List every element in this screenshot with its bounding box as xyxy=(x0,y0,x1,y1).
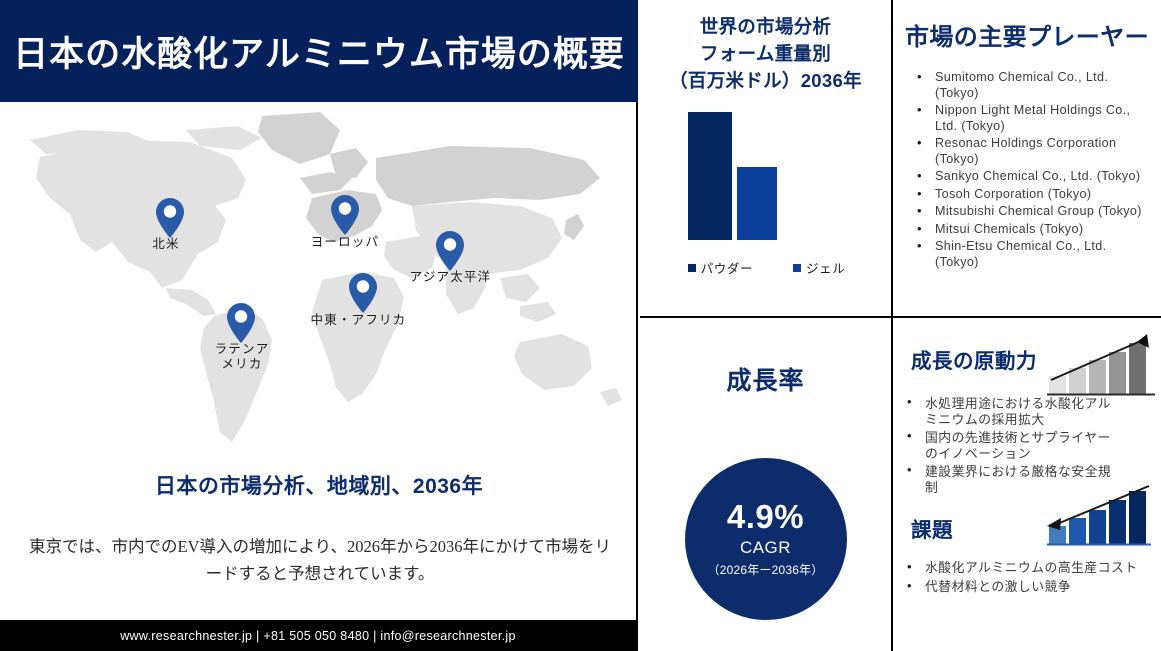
map-pin-north-america[interactable] xyxy=(155,197,185,239)
location-pin-icon xyxy=(348,272,378,314)
chart-title-line-3: （百万米ドル）2036年 xyxy=(646,67,885,94)
key-players-panel: 市場の主要プレーヤー Sumitomo Chemical Co., Ltd. (… xyxy=(893,0,1161,318)
infographic-root: 日本の水酸化アルミニウム市場の概要 xyxy=(0,0,1161,651)
world-map-graphic xyxy=(0,102,638,462)
left-panel: 日本の水酸化アルミニウム市場の概要 xyxy=(0,0,638,651)
chart-title-line-1: 世界の市場分析 xyxy=(646,13,885,40)
map-label-europe: ヨーロッパ xyxy=(290,235,400,250)
list-item: 代替材料との激しい競争 xyxy=(899,577,1157,596)
growth-drivers-panel: 成長の原動力 水処理用途における水酸化アルミニウムの採用拡大 国内の先進技術とサ… xyxy=(893,318,1161,651)
map-pin-asia-pacific[interactable] xyxy=(435,230,465,272)
growth-drivers-list: 水処理用途における水酸化アルミニウムの採用拡大 国内の先進技術とサプライヤーのイ… xyxy=(899,396,1119,498)
descending-arrow-bar-chart-icon xyxy=(1043,484,1155,548)
cagr-period: （2026年ー2036年） xyxy=(708,560,824,580)
list-item: Tosoh Corporation (Tokyo) xyxy=(913,187,1147,203)
map-label-asia-pacific: アジア太平洋 xyxy=(388,270,513,285)
legend-swatch-gel xyxy=(793,264,801,272)
list-item: 水処理用途における水酸化アルミニウムの採用拡大 xyxy=(899,396,1119,428)
page-title: 日本の水酸化アルミニウム市場の概要 xyxy=(13,26,625,77)
key-players-title: 市場の主要プレーヤー xyxy=(893,17,1161,52)
legend-label-gel: ジェル xyxy=(806,258,845,277)
cagr-badge: 4.9% CAGR （2026年ー2036年） xyxy=(685,458,847,620)
bar-chart-legend: パウダー ジェル xyxy=(640,258,893,277)
location-pin-icon xyxy=(226,302,256,344)
location-pin-icon xyxy=(330,194,360,236)
bar-chart-plot xyxy=(640,110,893,240)
footer-bar: www.researchnester.jp | +81 505 050 8480… xyxy=(0,620,636,651)
list-item: Resonac Holdings Corporation (Tokyo) xyxy=(913,136,1147,167)
chart-title-line-2: フォーム重量別 xyxy=(646,40,885,67)
legend-swatch-powder xyxy=(688,264,696,272)
list-item: Sumitomo Chemical Co., Ltd. (Tokyo) xyxy=(913,70,1147,101)
key-players-list: Sumitomo Chemical Co., Ltd. (Tokyo) Nipp… xyxy=(913,70,1147,270)
cagr-label: CAGR xyxy=(740,536,791,560)
ascending-bar-chart-icon xyxy=(1045,332,1157,398)
growth-rate-panel: 成長率 4.9% CAGR （2026年ー2036年） xyxy=(640,318,893,651)
market-analysis-chart-panel: 世界の市場分析 フォーム重量別 （百万米ドル）2036年 パウダー ジェル xyxy=(640,0,893,318)
bar-gel[interactable] xyxy=(737,167,777,240)
list-item: Nippon Light Metal Holdings Co., Ltd. (T… xyxy=(913,103,1147,134)
growth-drivers-title: 成長の原動力 xyxy=(911,344,1037,374)
list-item: 水酸化アルミニウムの高生産コスト xyxy=(899,558,1157,577)
map-pin-europe[interactable] xyxy=(330,194,360,236)
chart-title: 世界の市場分析 フォーム重量別 （百万米ドル）2036年 xyxy=(646,13,885,94)
bar-powder[interactable] xyxy=(688,112,732,240)
map-label-middle-east-africa: 中東・アフリカ xyxy=(291,313,426,328)
challenges-title: 課題 xyxy=(911,513,953,543)
growth-rate-title: 成長率 xyxy=(640,361,891,397)
location-pin-icon xyxy=(155,197,185,239)
map-pin-middle-east-africa[interactable] xyxy=(348,272,378,314)
region-headline: 日本の市場分析、地域別、2036年 xyxy=(0,470,638,500)
list-item: 国内の先進技術とサプライヤーのイノベーション xyxy=(899,430,1119,462)
challenges-list: 水酸化アルミニウムの高生産コスト 代替材料との激しい競争 xyxy=(899,558,1157,596)
legend-item-gel[interactable]: ジェル xyxy=(793,258,845,277)
world-map-area: 北米 ヨーロッパ アジア太平洋 ラテンア メリカ 中東・アフリカ xyxy=(0,102,638,462)
list-item: Mitsubishi Chemical Group (Tokyo) xyxy=(913,204,1147,220)
legend-label-powder: パウダー xyxy=(701,258,753,277)
cagr-value: 4.9% xyxy=(727,498,804,536)
footer-contact-text: www.researchnester.jp | +81 505 050 8480… xyxy=(120,629,516,643)
list-item: Shin-Etsu Chemical Co., Ltd. (Tokyo) xyxy=(913,239,1147,270)
header-band: 日本の水酸化アルミニウム市場の概要 xyxy=(0,0,638,102)
region-caption: 東京では、市内でのEV導入の増加により、2026年から2036年にかけて市場をリ… xyxy=(22,533,618,587)
legend-item-powder[interactable]: パウダー xyxy=(688,258,753,277)
list-item: Sankyo Chemical Co., Ltd. (Tokyo) xyxy=(913,169,1147,185)
location-pin-icon xyxy=(435,230,465,272)
map-label-north-america: 北米 xyxy=(131,237,201,252)
map-label-latin-america: ラテンア メリカ xyxy=(192,342,292,372)
map-pin-latin-america[interactable] xyxy=(226,302,256,344)
list-item: Mitsui Chemicals (Tokyo) xyxy=(913,222,1147,238)
